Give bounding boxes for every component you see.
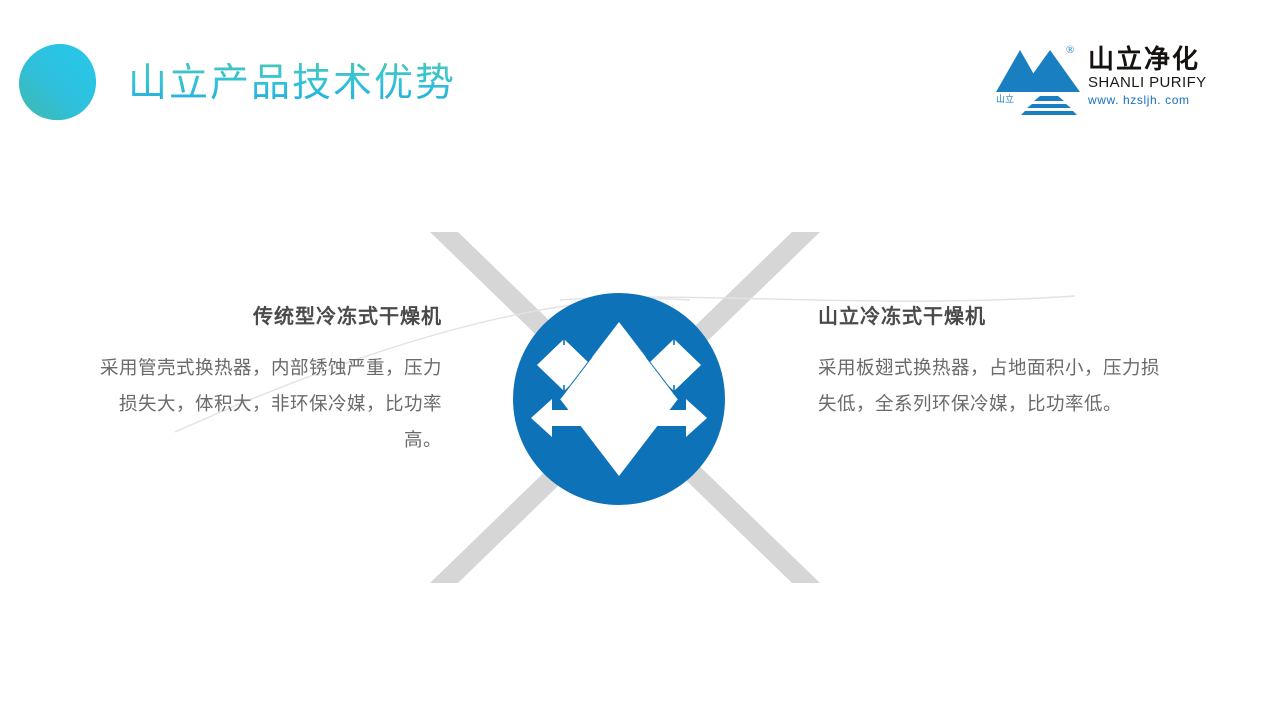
logo-brand-small: 山立	[996, 92, 1014, 105]
brand-logo: ® 山立 山立净化 SHANLI PURIFY www. hzsljh. com	[996, 42, 1218, 120]
logo-website: www. hzsljh. com	[1088, 93, 1220, 109]
column-shanli: 山立冷冻式干燥机 采用板翅式换热器，占地面积小，压力损失低，全系列环保冷媒，比功…	[818, 300, 1168, 423]
center-circle	[513, 293, 725, 505]
slide-canvas: 山立产品技术优势 ® 山立 山立净化 SHANLI PURIFY www. hz…	[0, 0, 1280, 720]
column-body-shanli: 采用板翅式换热器，占地面积小，压力损失低，全系列环保冷媒，比功率低。	[818, 351, 1168, 423]
logo-text-block: 山立净化 SHANLI PURIFY www. hzsljh. com	[1088, 46, 1220, 108]
logo-brand-en: SHANLI PURIFY	[1088, 74, 1220, 93]
page-title: 山立产品技术优势	[128, 60, 456, 109]
center-circle-icon	[513, 293, 725, 505]
center-diamond	[560, 322, 678, 476]
small-diamond-right	[647, 339, 701, 391]
small-diamond-left	[537, 339, 591, 391]
column-body-traditional: 采用管壳式换热器，内部锈蚀严重，压力损失大，体积大，非环保冷媒，比功率高。	[92, 351, 442, 459]
blob-decoration-icon	[17, 42, 99, 122]
logo-brand-cn: 山立净化	[1088, 46, 1220, 74]
diamond-seam-right	[646, 357, 678, 399]
diamond-seam-left	[560, 357, 592, 399]
gray-band-down	[430, 232, 820, 583]
column-title-shanli: 山立冷冻式干燥机	[818, 300, 1168, 329]
column-traditional: 传统型冷冻式干燥机 采用管壳式换热器，内部锈蚀严重，压力损失大，体积大，非环保冷…	[92, 300, 442, 459]
arrow-right	[627, 399, 707, 437]
registered-trademark-icon: ®	[1066, 44, 1074, 56]
gray-x-bands	[430, 232, 820, 583]
arrow-left	[531, 399, 611, 437]
column-title-traditional: 传统型冷冻式干燥机	[92, 300, 442, 329]
gray-band-up	[430, 232, 820, 583]
